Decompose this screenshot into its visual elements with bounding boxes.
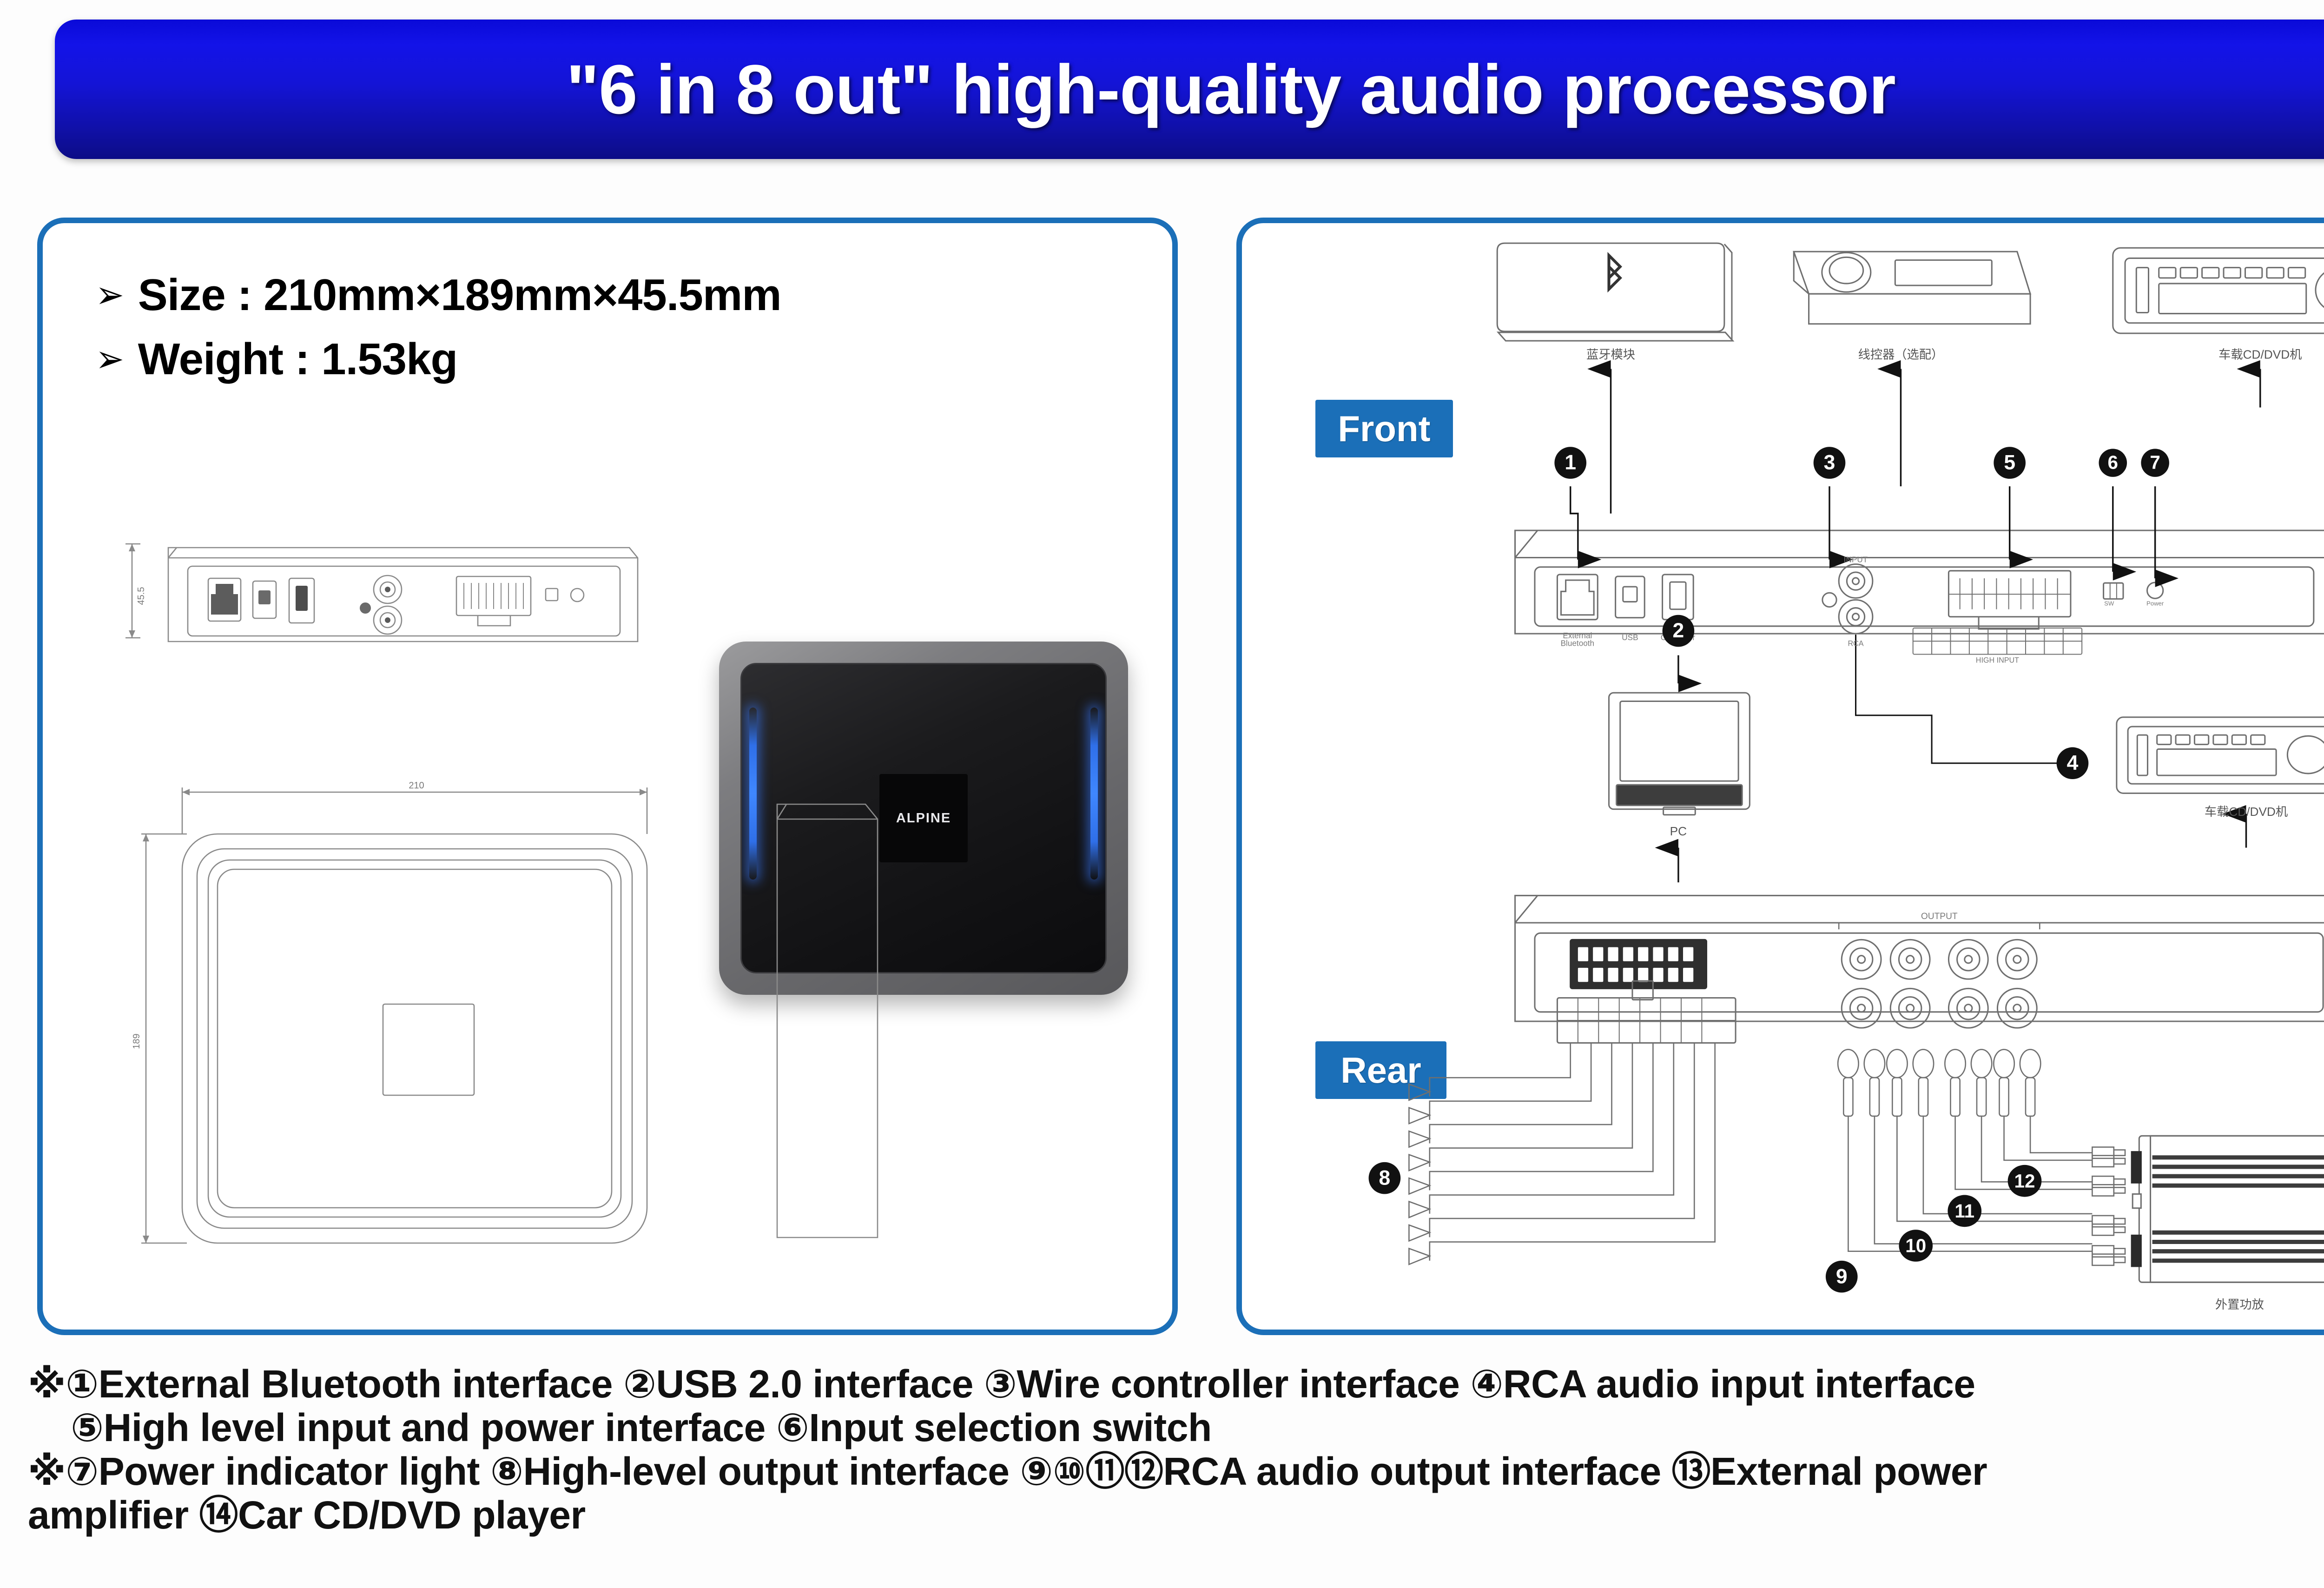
spec-row-weight: ➢ Weight : 1.53kg	[94, 334, 781, 385]
svg-text:10: 10	[1905, 1235, 1926, 1257]
wire-controller-drawing	[1794, 251, 2030, 324]
caption-bluetooth-module: 蓝牙模块	[1586, 347, 1635, 361]
side-view-drawing	[759, 776, 893, 1269]
svg-text:Power: Power	[2146, 600, 2164, 607]
speaker-wire-harness	[1409, 1043, 1715, 1264]
arrow-bullet-icon: ➢	[95, 340, 124, 378]
spec-list: ➢ Size : 210mm×189mm×45.5mm ➢ Weight : 1…	[94, 270, 781, 398]
car-cd-player-top-drawing	[2113, 248, 2324, 333]
svg-text:9: 9	[1836, 1265, 1848, 1288]
page-title: "6 in 8 out" high-quality audio processo…	[566, 49, 1895, 130]
svg-text:HIGH INPUT: HIGH INPUT	[1976, 656, 2019, 665]
svg-text:210: 210	[409, 781, 424, 791]
svg-text:189: 189	[132, 1033, 142, 1049]
svg-text:4: 4	[2067, 752, 2079, 774]
title-banner: "6 in 8 out" high-quality audio processo…	[55, 20, 2324, 159]
bluetooth-module-drawing	[1497, 243, 1733, 341]
caption-line-3: ※⑦Power indicator light ⑧High-level outp…	[28, 1449, 2324, 1493]
led-strip-right-icon	[1090, 708, 1098, 880]
svg-text:1: 1	[1565, 451, 1576, 474]
spec-weight-label: Weight : 1.53kg	[138, 334, 457, 385]
svg-text:12: 12	[2014, 1170, 2035, 1191]
car-cd-player-mid-drawing	[2117, 717, 2324, 794]
caption-cd-player-mid: 车载CD/DVD机	[2205, 805, 2288, 819]
svg-text:SW: SW	[2104, 600, 2114, 607]
svg-text:INPUT: INPUT	[1844, 555, 1868, 564]
svg-text:6: 6	[2108, 452, 2118, 473]
front-elevation-drawing: 45.5	[122, 530, 647, 651]
svg-text:11: 11	[1954, 1200, 1974, 1222]
svg-text:2: 2	[1673, 619, 1684, 642]
callout-bubbles: 1 2 3 4 5 6 7 8 9 10 11 12 13 14 14	[1369, 279, 2324, 1293]
caption-cd-player-top: 车载CD/DVD机	[2218, 347, 2302, 361]
svg-text:RCA: RCA	[1848, 639, 1863, 648]
caption-line-4: amplifier ⑭Car CD/DVD player	[28, 1493, 2324, 1537]
spec-size-label: Size : 210mm×189mm×45.5mm	[138, 270, 781, 321]
rear-panel-body	[1515, 895, 2324, 1043]
caption-block: ※①External Bluetooth interface ②USB 2.0 …	[28, 1362, 2324, 1537]
rca-output-cables	[1838, 1050, 2125, 1265]
svg-text:Bluetooth: Bluetooth	[1561, 638, 1595, 648]
svg-text:7: 7	[2150, 452, 2160, 473]
caption-line-1: ※①External Bluetooth interface ②USB 2.0 …	[28, 1362, 2324, 1406]
arrow-bullet-icon: ➢	[95, 276, 124, 314]
svg-text:OUTPUT: OUTPUT	[1921, 912, 1958, 921]
caption-wire-controller: 线控器（选配）	[1858, 347, 1944, 361]
top-view-drawing: 210 189	[126, 776, 675, 1269]
svg-text:8: 8	[1379, 1166, 1391, 1189]
external-amplifier-drawing	[2132, 1136, 2324, 1282]
pc-laptop-drawing	[1609, 693, 1750, 814]
caption-external-amplifier: 外置功放	[2215, 1297, 2264, 1311]
svg-text:USB: USB	[1622, 633, 1638, 642]
svg-text:3: 3	[1824, 451, 1835, 474]
led-strip-left-icon	[749, 708, 757, 880]
connection-diagram: External Bluetooth USB Controller INPUT …	[1242, 223, 2324, 1330]
connection-diagram-panel: Front Rear	[1236, 218, 2324, 1335]
caption-line-2: ⑤High level input and power interface ⑥I…	[28, 1406, 2324, 1449]
caption-pc: PC	[1670, 824, 1687, 838]
svg-text:45.5: 45.5	[136, 587, 146, 605]
spec-row-size: ➢ Size : 210mm×189mm×45.5mm	[94, 270, 781, 321]
alpine-brand-label: ALPINE	[896, 811, 951, 826]
specs-panel: ➢ Size : 210mm×189mm×45.5mm ➢ Weight : 1…	[37, 218, 1178, 1335]
svg-text:5: 5	[2004, 451, 2015, 474]
